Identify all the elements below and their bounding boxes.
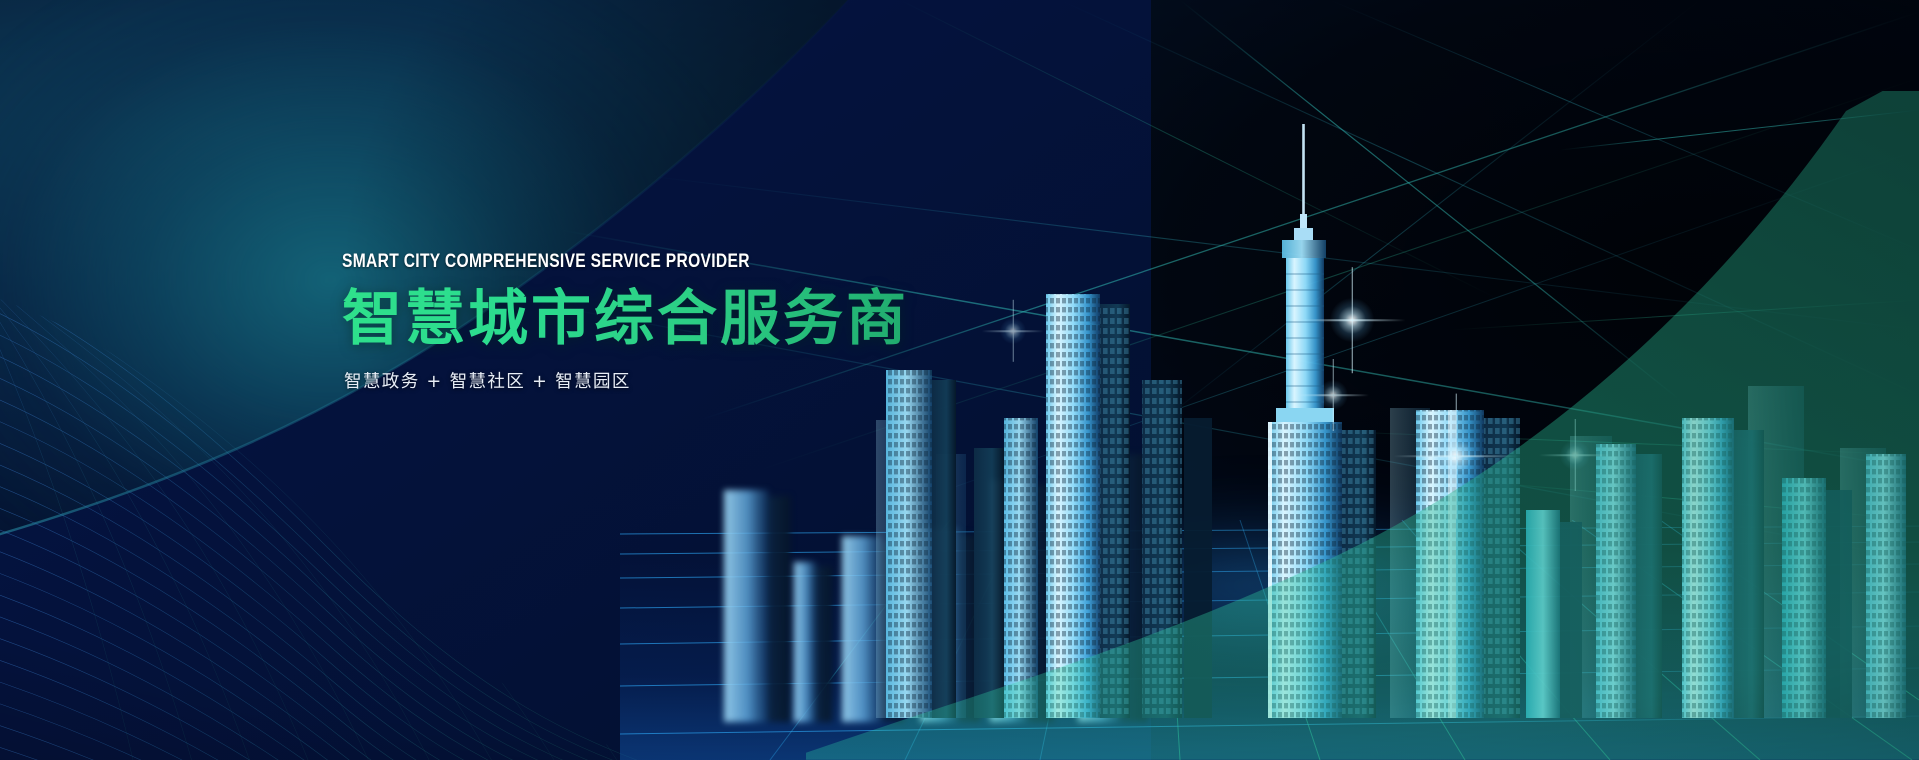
eyebrow-text: SMART CITY COMPREHENSIVE SERVICE PROVIDE…	[342, 250, 918, 273]
central-tower	[1268, 124, 1376, 718]
subtitle-text: 智慧政务 + 智慧社区 + 智慧园区	[344, 368, 1062, 393]
page-title: 智慧城市综合服务商	[342, 287, 1062, 352]
banner-copy: SMART CITY COMPREHENSIVE SERVICE PROVIDE…	[342, 250, 1062, 393]
smart-city-banner: SMART CITY COMPREHENSIVE SERVICE PROVIDE…	[0, 0, 1919, 760]
city-skyline	[690, 118, 1919, 718]
